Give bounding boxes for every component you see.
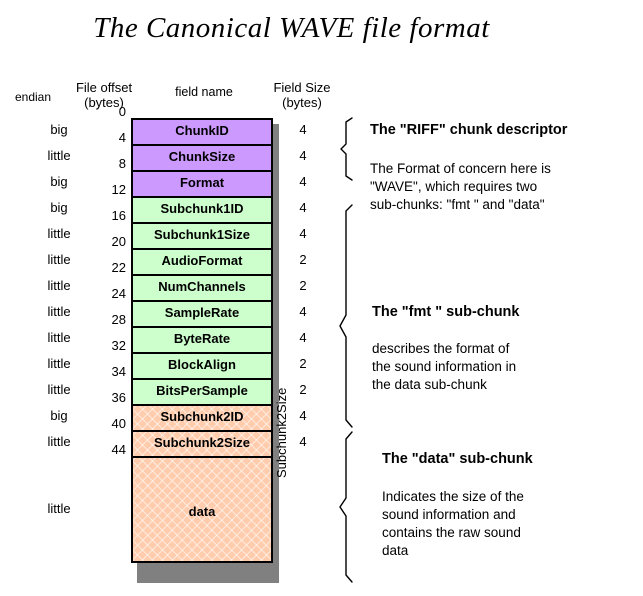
field-row-label: NumChannels [158, 279, 245, 294]
field-row-byterate: ByteRate [131, 326, 273, 352]
file-offset-label: 8 [70, 156, 126, 171]
field-row-subchunk1size: Subchunk1Size [131, 222, 273, 248]
field-size-label: 4 [281, 226, 325, 241]
wave-field-table: ChunkIDChunkSizeFormatSubchunk1IDSubchun… [131, 118, 273, 563]
file-offset-label: 16 [70, 208, 126, 223]
field-row-audioformat: AudioFormat [131, 248, 273, 274]
field-row-label: ChunkID [175, 123, 228, 138]
field-row-label: BitsPerSample [156, 383, 248, 398]
endian-label: little [0, 501, 118, 516]
field-size-label: 4 [281, 122, 325, 137]
file-offset-label: 12 [70, 182, 126, 197]
brace-data [340, 432, 352, 582]
field-row-label: Format [180, 175, 224, 190]
field-row-label: ChunkSize [169, 149, 235, 164]
field-row-blockalign: BlockAlign [131, 352, 273, 378]
field-row-label: AudioFormat [162, 253, 243, 268]
field-size-label: 4 [281, 148, 325, 163]
subchunk2size-vertical-label: Subchunk2Size [274, 368, 289, 478]
annotation-riff-body: The Format of concern here is "WAVE", wh… [370, 160, 640, 214]
field-row-chunksize: ChunkSize [131, 144, 273, 170]
field-row-bitspersample: BitsPerSample [131, 378, 273, 404]
field-row-numchannels: NumChannels [131, 274, 273, 300]
field-row-format: Format [131, 170, 273, 196]
file-offset-label: 40 [70, 416, 126, 431]
field-size-label: 4 [281, 200, 325, 215]
field-row-label: BlockAlign [168, 357, 236, 372]
column-header-field-name: field name [150, 85, 258, 100]
annotation-data-heading: The "data" sub-chunk [382, 450, 632, 468]
file-offset-label: 44 [70, 442, 126, 457]
field-row-data: data [131, 456, 273, 563]
annotation-fmt-heading: The "fmt " sub-chunk [372, 303, 632, 321]
field-size-label: 4 [281, 174, 325, 189]
file-offset-label: 34 [70, 364, 126, 379]
file-offset-label: 0 [70, 104, 126, 119]
field-row-subchunk2size: Subchunk2Size [131, 430, 273, 456]
annotation-data-body: Indicates the size of the sound informat… [382, 488, 632, 560]
file-offset-label: 24 [70, 286, 126, 301]
file-offset-label: 4 [70, 130, 126, 145]
brace-fmt [340, 205, 352, 427]
field-size-label: 4 [281, 304, 325, 319]
file-offset-label: 36 [70, 390, 126, 405]
field-row-label: ByteRate [174, 331, 230, 346]
file-offset-label: 20 [70, 234, 126, 249]
brace-riff [341, 118, 352, 180]
column-header-field-size: Field Size (bytes) [258, 80, 346, 110]
field-size-label: 2 [281, 252, 325, 267]
field-row-chunkid: ChunkID [131, 118, 273, 144]
field-row-label: Subchunk2Size [154, 435, 250, 450]
field-row-label: SampleRate [165, 305, 239, 320]
field-size-label: 4 [281, 330, 325, 345]
field-row-label: Subchunk2ID [160, 409, 243, 424]
page-title: The Canonical WAVE file format [0, 12, 583, 45]
field-row-samplerate: SampleRate [131, 300, 273, 326]
file-offset-label: 32 [70, 338, 126, 353]
annotation-riff-heading: The "RIFF" chunk descriptor [370, 121, 640, 139]
field-row-subchunk2id: Subchunk2ID [131, 404, 273, 430]
field-row-label: data [189, 504, 216, 519]
field-size-label: 2 [281, 278, 325, 293]
file-offset-label: 28 [70, 312, 126, 327]
field-row-subchunk1id: Subchunk1ID [131, 196, 273, 222]
annotation-fmt-body: describes the format of the sound inform… [372, 340, 632, 394]
file-offset-label: 22 [70, 260, 126, 275]
column-header-endian: endian [2, 90, 64, 105]
diagram-canvas: The Canonical WAVE file format endian Fi… [0, 0, 643, 596]
field-row-label: Subchunk1Size [154, 227, 250, 242]
field-row-label: Subchunk1ID [160, 201, 243, 216]
